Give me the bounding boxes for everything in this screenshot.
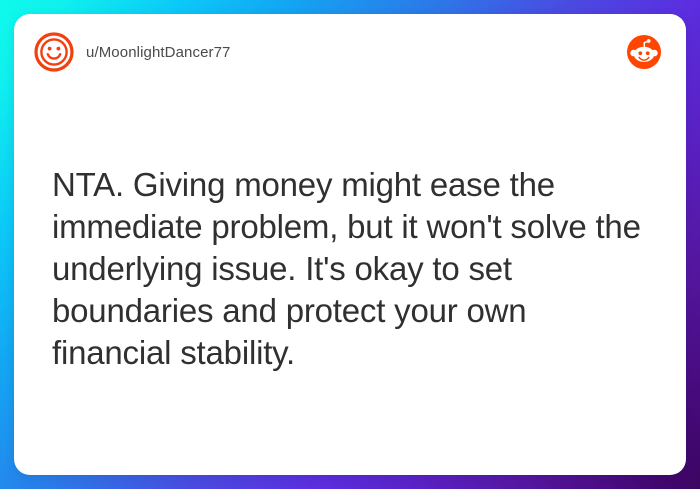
reddit-comment-card: u/MoonlightDancer77 — [14, 14, 686, 475]
smiley-face-icon — [34, 32, 74, 72]
reddit-snoo-icon[interactable] — [626, 34, 662, 70]
comment-header: u/MoonlightDancer77 — [14, 14, 686, 90]
author-block[interactable]: u/MoonlightDancer77 — [34, 32, 626, 72]
comment-text: NTA. Giving money might ease the immedia… — [52, 164, 652, 374]
screenshot-canvas: u/MoonlightDancer77 — [0, 0, 700, 489]
author-username: u/MoonlightDancer77 — [86, 45, 231, 60]
